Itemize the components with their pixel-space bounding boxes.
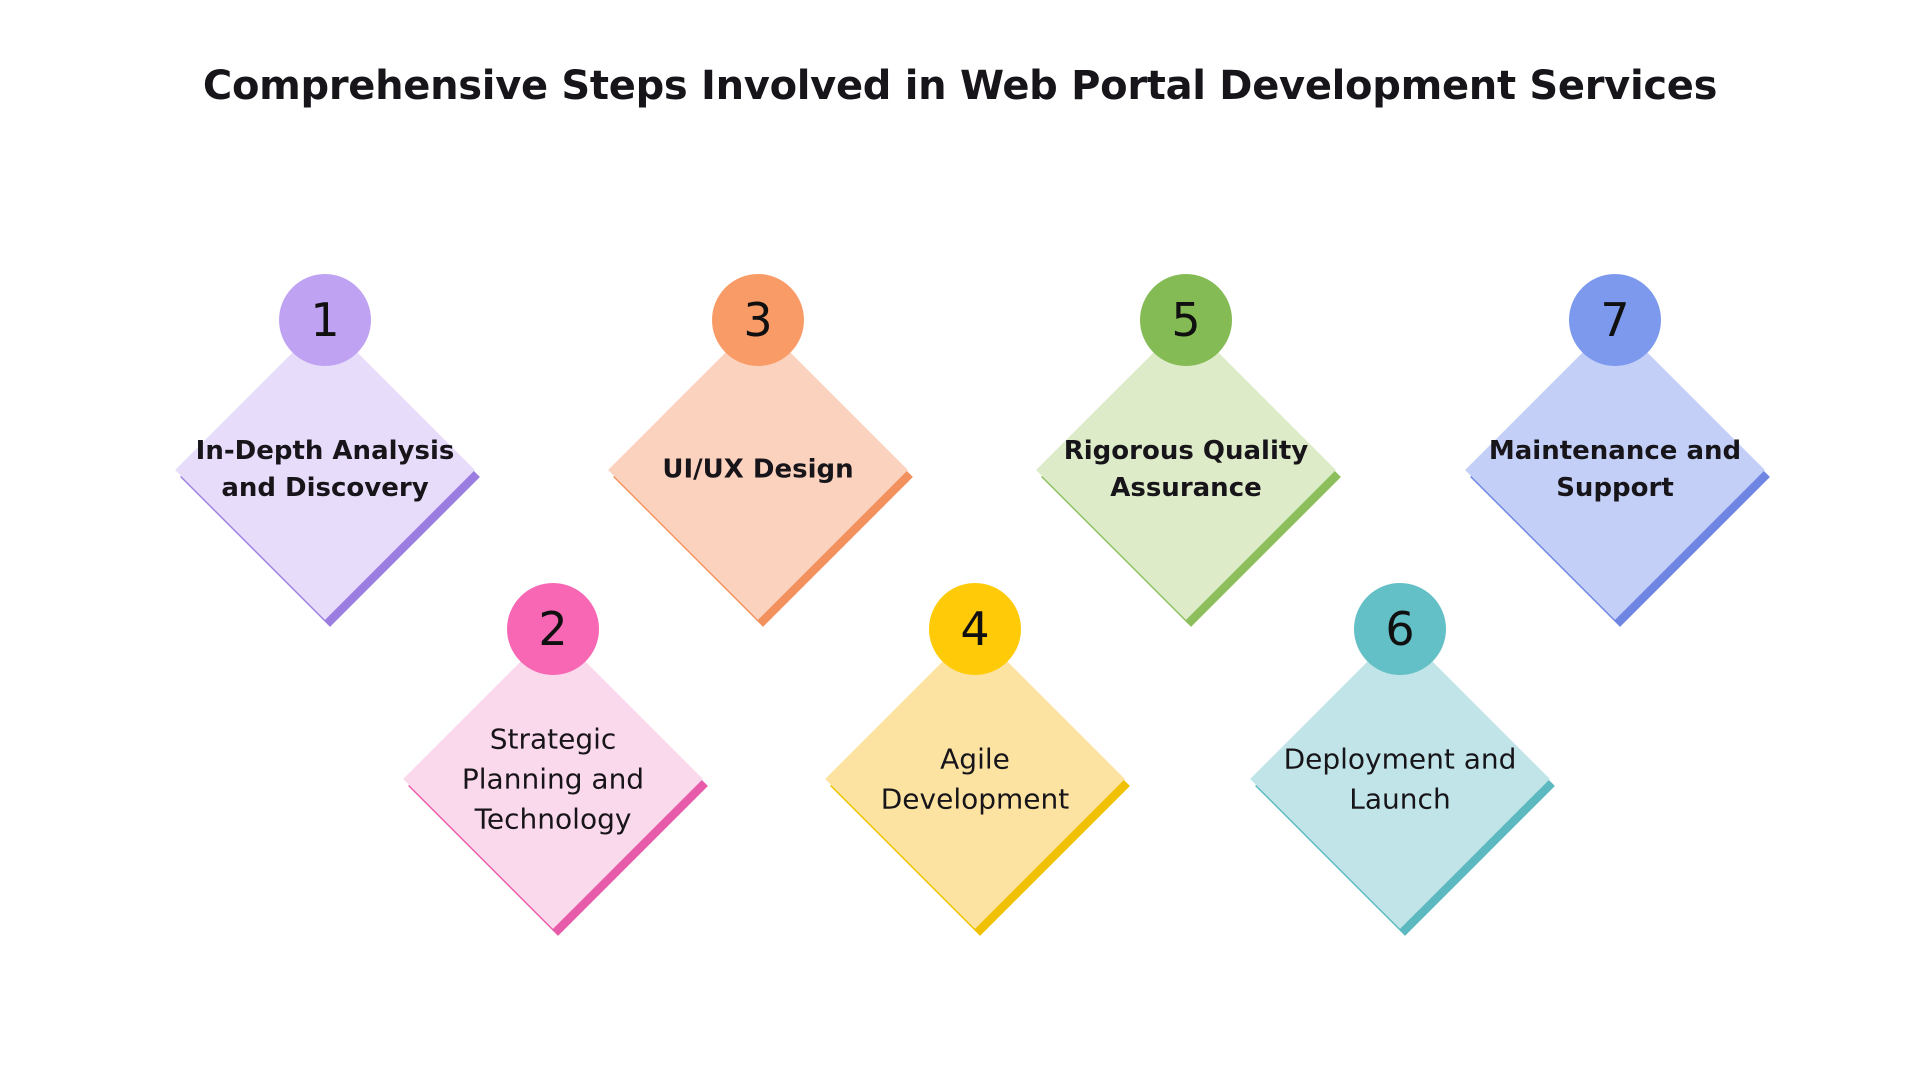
step-5-label: Rigorous Quality Assurance xyxy=(1041,433,1331,507)
step-4-number-text: 4 xyxy=(960,606,989,652)
step-6-label: Deployment and Launch xyxy=(1255,739,1545,819)
step-3-number-text: 3 xyxy=(743,297,772,343)
step-1-number-badge[interactable]: 1 xyxy=(279,274,371,366)
step-7[interactable]: Maintenance and Support7 xyxy=(1430,285,1800,655)
step-5-number-badge[interactable]: 5 xyxy=(1140,274,1232,366)
infographic-canvas: Comprehensive Steps Involved in Web Port… xyxy=(0,0,1920,1080)
step-1-label: In-Depth Analysis and Discovery xyxy=(180,433,470,507)
step-7-label: Maintenance and Support xyxy=(1470,433,1760,507)
page-title: Comprehensive Steps Involved in Web Port… xyxy=(0,62,1920,110)
step-5-number-text: 5 xyxy=(1171,297,1200,343)
step-7-number-text: 7 xyxy=(1600,297,1629,343)
step-2-number-text: 2 xyxy=(538,606,567,652)
step-1-number-text: 1 xyxy=(310,297,339,343)
step-2-label: Strategic Planning and Technology xyxy=(408,719,698,838)
step-6-number-text: 6 xyxy=(1385,606,1414,652)
step-3-number-badge[interactable]: 3 xyxy=(712,274,804,366)
step-3-label: UI/UX Design xyxy=(613,452,903,489)
step-7-number-badge[interactable]: 7 xyxy=(1569,274,1661,366)
step-4-label: Agile Development xyxy=(830,739,1120,819)
